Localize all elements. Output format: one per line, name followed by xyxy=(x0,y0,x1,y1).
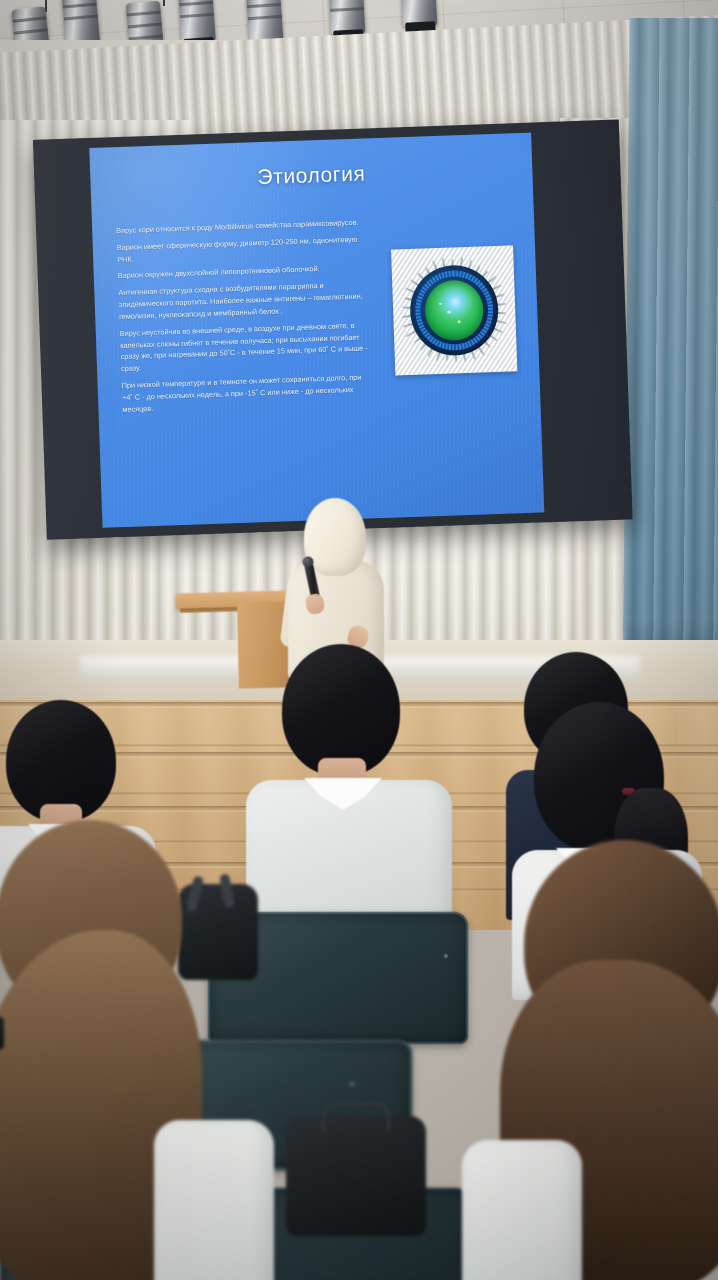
light-cable xyxy=(163,0,165,6)
audience-member-foreground-left xyxy=(0,820,240,1280)
slide-paragraph: Вирус неустойчив во внешней среде, в воз… xyxy=(120,319,373,375)
screen-letterbox-right xyxy=(531,120,633,523)
slide-paragraph: Варион имеет сферическую форму, диаметр … xyxy=(117,233,370,265)
photo-scene: Этиология Вирус кори относится к роду Mo… xyxy=(0,0,718,1280)
slide-paragraph: Антигенная структура сходна с возбудител… xyxy=(118,279,371,323)
head xyxy=(282,644,400,776)
slide-title: Этиология xyxy=(90,157,533,196)
stage-light xyxy=(329,0,366,35)
presentation-slide: Этиология Вирус кори относится к роду Mo… xyxy=(89,133,544,528)
torso xyxy=(154,1120,274,1280)
side-curtain-blue xyxy=(622,18,718,718)
virion-diagram-panel xyxy=(391,245,517,375)
stage-light xyxy=(401,0,438,27)
audience-member-center-dark-hair xyxy=(246,644,456,934)
slide-body-text: Вирус кори относится к роду Morbilliviru… xyxy=(116,216,375,420)
slide-paragraph: При низкой температуре и в темноте он мо… xyxy=(121,371,374,415)
backpack-handle xyxy=(322,1102,390,1131)
black-backpack[interactable] xyxy=(286,1116,426,1236)
hair-clip xyxy=(0,1016,4,1050)
projection-screen: Этиология Вирус кори относится к роду Mo… xyxy=(33,120,633,540)
measles-virion-icon xyxy=(407,262,502,359)
stage-light xyxy=(178,0,216,43)
audience-member-foreground-right xyxy=(452,840,718,1280)
torso xyxy=(462,1140,582,1280)
